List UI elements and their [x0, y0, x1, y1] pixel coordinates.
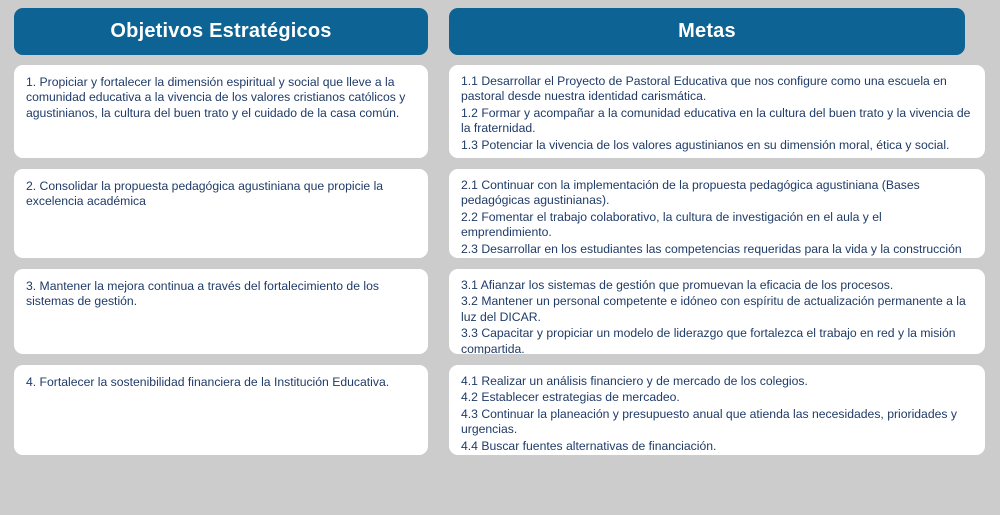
objetivo-card-4: 4. Fortalecer la sostenibilidad financie… — [14, 365, 428, 455]
metas-card-1: 1.1 Desarrollar el Proyecto de Pastoral … — [449, 65, 985, 158]
objetivo-4-text: 4. Fortalecer la sostenibilidad financie… — [26, 375, 420, 390]
meta-1-3-text: 1.3 Potenciar la vivencia de los valores… — [461, 138, 975, 153]
meta-2-3-text: 2.3 Desarrollar en los estudiantes las c… — [461, 242, 975, 259]
column-metas: Metas 1.1 Desarrollar el Proyecto de Pas… — [449, 8, 985, 455]
objetivo-card-3: 3. Mantener la mejora continua a través … — [14, 269, 428, 354]
meta-1-1-text: 1.1 Desarrollar el Proyecto de Pastoral … — [461, 74, 975, 105]
meta-3-3-text: 3.3 Capacitar y propiciar un modelo de l… — [461, 326, 975, 354]
meta-1-2-text: 1.2 Formar y acompañar a la comunidad ed… — [461, 106, 975, 137]
objetivo-2-text: 2. Consolidar la propuesta pedagógica ag… — [26, 179, 420, 210]
objetivo-card-2: 2. Consolidar la propuesta pedagógica ag… — [14, 169, 428, 258]
objetivo-1-text: 1. Propiciar y fortalecer la dimensión e… — [26, 75, 420, 121]
meta-4-2-text: 4.2 Establecer estrategias de mercadeo. — [461, 390, 975, 405]
meta-2-1-text: 2.1 Continuar con la implementación de l… — [461, 178, 975, 209]
meta-3-2-text: 3.2 Mantener un personal competente e id… — [461, 294, 975, 325]
meta-4-3-text: 4.3 Continuar la planeación y presupuest… — [461, 407, 975, 438]
metas-card-2: 2.1 Continuar con la implementación de l… — [449, 169, 985, 258]
objetivos-card-list: 1. Propiciar y fortalecer la dimensión e… — [14, 65, 428, 455]
metas-card-list: 1.1 Desarrollar el Proyecto de Pastoral … — [449, 65, 985, 455]
meta-4-4-text: 4.4 Buscar fuentes alternativas de finan… — [461, 439, 975, 454]
metas-card-3: 3.1 Afianzar los sistemas de gestión que… — [449, 269, 985, 354]
metas-card-4: 4.1 Realizar un análisis financiero y de… — [449, 365, 985, 455]
meta-4-1-text: 4.1 Realizar un análisis financiero y de… — [461, 374, 975, 389]
two-column-layout: Objetivos Estratégicos 1. Propiciar y fo… — [0, 0, 1000, 455]
column-header-metas: Metas — [449, 8, 965, 55]
meta-2-2-text: 2.2 Fomentar el trabajo colaborativo, la… — [461, 210, 975, 241]
meta-3-1-text: 3.1 Afianzar los sistemas de gestión que… — [461, 278, 975, 293]
objetivo-3-text: 3. Mantener la mejora continua a través … — [26, 279, 420, 310]
column-header-objetivos-estrategicos: Objetivos Estratégicos — [14, 8, 428, 55]
column-objetivos-estrategicos: Objetivos Estratégicos 1. Propiciar y fo… — [14, 8, 428, 455]
strategic-objectives-board: Objetivos Estratégicos 1. Propiciar y fo… — [0, 0, 1000, 515]
objetivo-card-1: 1. Propiciar y fortalecer la dimensión e… — [14, 65, 428, 158]
